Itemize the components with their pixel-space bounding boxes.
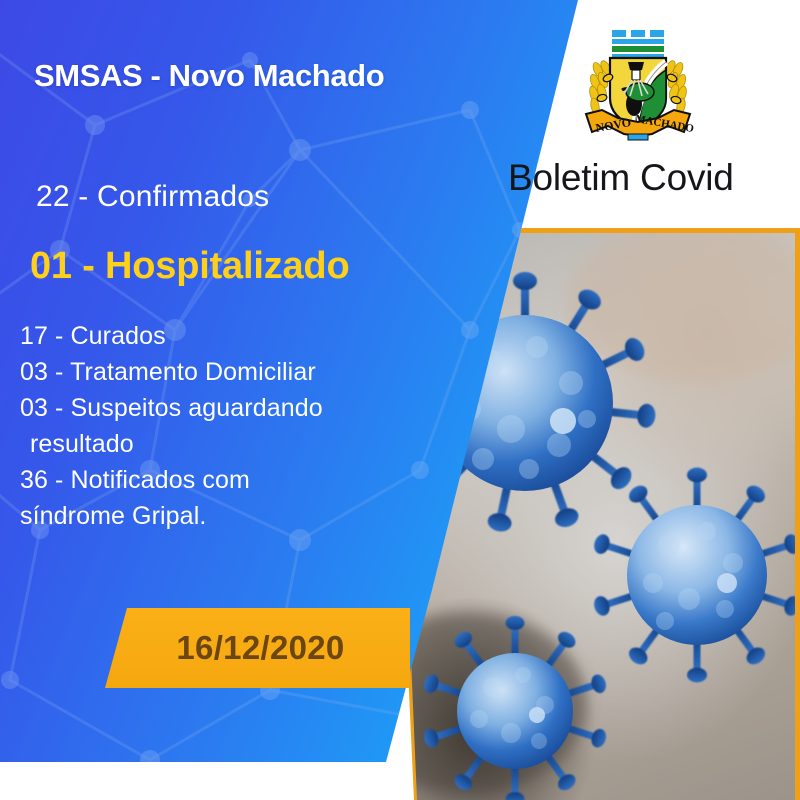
page-title: SMSAS - Novo Machado bbox=[34, 58, 384, 94]
list-item: 03 - Suspeitos aguardando bbox=[20, 390, 400, 426]
list-item: 17 - Curados bbox=[20, 318, 400, 354]
covid-bulletin-poster: SMSAS - Novo Machado 22 - Confirmados 01… bbox=[0, 0, 800, 800]
date-text: 16/12/2020 bbox=[170, 629, 344, 667]
stat-list: 17 - Curados 03 - Tratamento Domiciliar … bbox=[20, 318, 400, 534]
list-item: resultado bbox=[20, 426, 400, 462]
stat-confirmed: 22 - Confirmados bbox=[36, 180, 269, 214]
stat-hospitalized: 01 - Hospitalizado bbox=[30, 245, 349, 288]
list-item: 36 - Notificados com bbox=[20, 462, 400, 498]
list-item: síndrome Gripal. bbox=[20, 498, 400, 534]
bulletin-title: Boletim Covid bbox=[508, 157, 734, 199]
list-item: 03 - Tratamento Domiciliar bbox=[20, 354, 400, 390]
novo-machado-coat-of-arms-icon: NOVO MACHADO bbox=[572, 18, 704, 150]
date-badge: 16/12/2020 bbox=[105, 608, 410, 688]
